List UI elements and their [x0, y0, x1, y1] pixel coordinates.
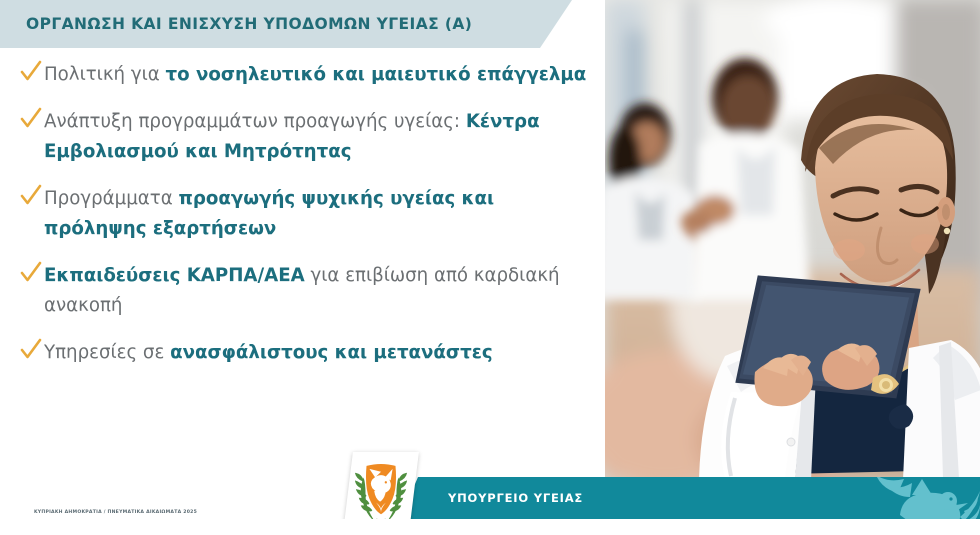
- list-item: Προγράμματα προαγωγής ψυχικής υγείας και…: [0, 184, 600, 244]
- list-item: Εκπαιδεύσεις ΚΑΡΠΑ/ΑΕΑ για επιβίωση από …: [0, 261, 600, 321]
- title-banner: ΟΡΓΑΝΩΣΗ ΚΑΙ ΕΝΙΣΧΥΣΗ ΥΠΟΔΟΜΩΝ ΥΓΕΙΑΣ (Α…: [0, 0, 572, 48]
- list-item: Υπηρεσίες σε ανασφάλιστους και μετανάστε…: [0, 338, 600, 368]
- list-item-emphasis: ανασφάλιστους και μετανάστες: [170, 342, 493, 363]
- list-item-emphasis: το νοσηλευτικό και μαιευτικό επάγγελμα: [166, 64, 587, 85]
- ministry-label: ΥΠΟΥΡΓΕΙΟ ΥΓΕΙΑΣ: [448, 491, 583, 505]
- check-icon: [20, 260, 42, 286]
- list-item-emphasis: Εκπαιδεύσεις ΚΑΡΠΑ/ΑΕΑ: [44, 265, 305, 286]
- check-icon: [20, 183, 42, 209]
- slide: ΟΡΓΑΝΩΣΗ ΚΑΙ ΕΝΙΣΧΥΣΗ ΥΠΟΔΟΜΩΝ ΥΓΕΙΑΣ (Α…: [0, 0, 980, 535]
- footer-white-strip: [0, 519, 980, 535]
- list-item-text: Εκπαιδεύσεις ΚΑΡΠΑ/ΑΕΑ για επιβίωση από …: [44, 265, 560, 316]
- check-icon: [20, 59, 42, 85]
- check-icon: [20, 337, 42, 363]
- check-icon: [20, 106, 42, 132]
- list-item: Ανάπτυξη προγραμμάτων προαγωγής υγείας: …: [0, 107, 600, 167]
- bullet-list: Πολιτική για το νοσηλευτικό και μαιευτικ…: [0, 60, 600, 385]
- list-item-text: Προγράμματα προαγωγής ψυχικής υγείας και…: [44, 188, 494, 239]
- healthcare-worker-with-tablet-photo: [605, 0, 980, 477]
- list-item-text: Ανάπτυξη προγραμμάτων προαγωγής υγείας: …: [44, 111, 540, 162]
- list-item-text: Πολιτική για το νοσηλευτικό και μαιευτικ…: [44, 64, 586, 85]
- list-item: Πολιτική για το νοσηλευτικό και μαιευτικ…: [0, 60, 600, 90]
- copyright-text: ΚΥΠΡΙΑΚΗ ΔΗΜΟΚΡΑΤΙΑ / ΠΝΕΥΜΑΤΙΚΑ ΔΙΚΑΙΩΜ…: [34, 510, 197, 515]
- list-item-text: Υπηρεσίες σε ανασφάλιστους και μετανάστε…: [44, 342, 493, 363]
- page-title: ΟΡΓΑΝΩΣΗ ΚΑΙ ΕΝΙΣΧΥΣΗ ΥΠΟΔΟΜΩΝ ΥΓΕΙΑΣ (Α…: [26, 15, 472, 33]
